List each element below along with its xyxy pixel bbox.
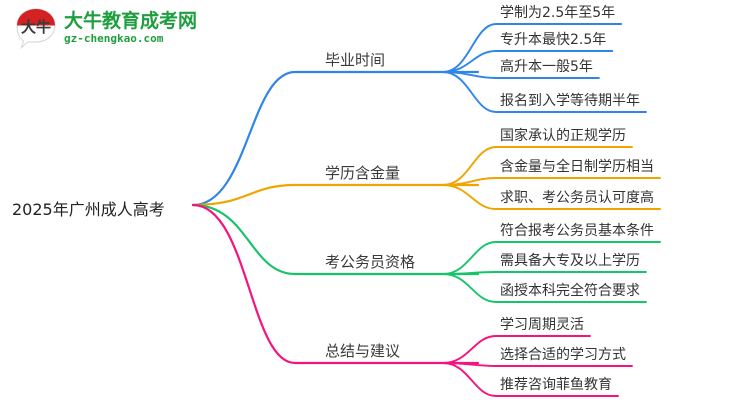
mindmap-leaf-2-2[interactable]: 含金量与全日制学历相当 [500, 156, 654, 176]
mindmap-leaf-1-3[interactable]: 高升本一般5年 [500, 56, 593, 76]
mindmap-leaf-1-4[interactable]: 报名到入学等待期半年 [500, 90, 640, 110]
logo-domain: gz-chengkao.com [64, 32, 197, 45]
mindmap-leaf-2-1[interactable]: 国家承认的正规学历 [500, 125, 626, 145]
mindmap-leaf-2-3[interactable]: 求职、考公务员认可度高 [500, 187, 654, 207]
mindmap-branch-label-1[interactable]: 毕业时间 [325, 49, 385, 70]
mindmap-leaf-3-2[interactable]: 需具备大专及以上学历 [500, 250, 640, 270]
mindmap-leaf-3-1[interactable]: 符合报考公务员基本条件 [500, 220, 654, 240]
mindmap-leaf-4-2[interactable]: 选择合适的学习方式 [500, 344, 626, 364]
svg-text:大牛: 大牛 [21, 18, 51, 36]
mindmap-branch-label-2[interactable]: 学历含金量 [325, 162, 400, 183]
mindmap-leaf-3-3[interactable]: 函授本科完全符合要求 [500, 280, 640, 300]
mindmap-branch-label-4[interactable]: 总结与建议 [325, 340, 400, 361]
connector-path [193, 185, 478, 205]
mindmap-branch-label-3[interactable]: 考公务员资格 [325, 251, 415, 272]
mindmap-leaf-1-1[interactable]: 学制为2.5年至5年 [500, 2, 615, 22]
connector-path [443, 272, 646, 274]
logo-mark-icon: 大牛 [14, 6, 58, 50]
mindmap-root-node[interactable]: 2025年广州成人高考 [12, 196, 165, 220]
mindmap-leaf-4-1[interactable]: 学习周期灵活 [500, 314, 584, 334]
mindmap-leaf-4-3[interactable]: 推荐咨询菲鱼教育 [500, 374, 612, 394]
logo-title: 大牛教育成考网 [64, 11, 197, 32]
site-logo[interactable]: 大牛 大牛教育成考网 gz-chengkao.com [14, 6, 197, 50]
mindmap-leaf-1-2[interactable]: 专升本最快2.5年 [500, 29, 606, 49]
